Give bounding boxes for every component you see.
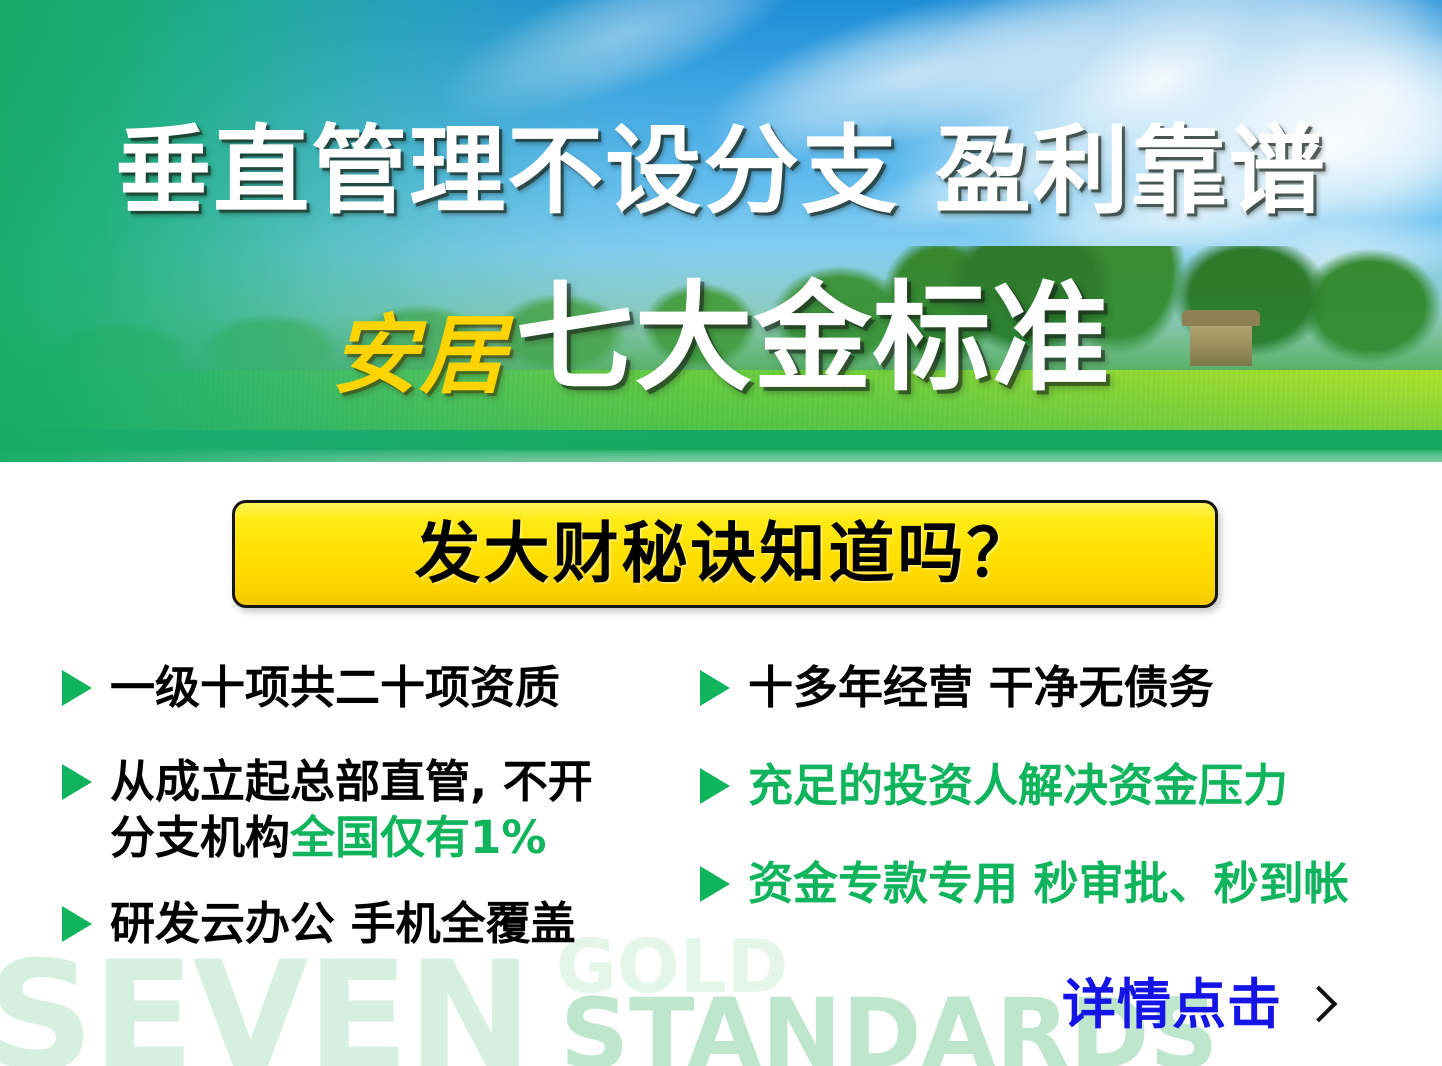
list-item: 充足的投资人解决资金压力 [700,758,1430,814]
triangle-bullet-icon [700,866,730,902]
feature-label: 充足的投资人解决资金压力 [748,758,1288,814]
feature-label: 从成立起总部直管, 不开 分支机构全国仅有1% [110,754,593,866]
triangle-bullet-icon [700,670,730,706]
feature-label: 一级十项共二十项资质 [110,660,560,716]
triangle-bullet-icon [62,670,92,706]
advertisement-banner: 垂直管理不设分支 盈利靠谱 安居七大金标准 发大财秘诀知道吗？ SEVEN GO… [0,0,1442,1066]
detail-link-label: 详情点击 [1062,978,1282,1032]
hero-headline-main: 七大金标准 [515,278,1110,398]
hero-headline-secondary: 安居七大金标准 [0,278,1442,434]
list-item: 十多年经营 干净无债务 [700,660,1430,716]
triangle-bullet-icon [62,764,92,800]
hero-headline-accent: 安居 [331,296,507,416]
feature-label-highlight: 全国仅有1% [290,811,546,864]
hero-image-section: 垂直管理不设分支 盈利靠谱 安居七大金标准 [0,0,1442,462]
question-banner-label: 发大财秘诀知道吗？ [415,521,1036,587]
feature-label: 研发云办公 手机全覆盖 [110,896,576,952]
feature-column-left: 一级十项共二十项资质 从成立起总部直管, 不开 分支机构全国仅有1% 研发云办公… [62,660,702,978]
chevron-right-icon [1302,982,1332,1028]
detail-link[interactable]: 详情点击 [1062,978,1332,1032]
list-item: 研发云办公 手机全覆盖 [62,896,702,952]
list-item: 资金专款专用 秒审批、秒到帐 [700,856,1430,912]
question-banner[interactable]: 发大财秘诀知道吗？ [232,500,1218,608]
list-item: 从成立起总部直管, 不开 分支机构全国仅有1% [62,754,702,866]
feature-column-right: 十多年经营 干净无债务 充足的投资人解决资金压力 资金专款专用 秒审批、秒到帐 [700,660,1430,938]
triangle-bullet-icon [700,768,730,804]
hero-headline-primary: 垂直管理不设分支 盈利靠谱 [0,115,1442,227]
feature-label: 十多年经营 干净无债务 [748,660,1214,716]
feature-lists: 一级十项共二十项资质 从成立起总部直管, 不开 分支机构全国仅有1% 研发云办公… [0,660,1442,990]
list-item: 一级十项共二十项资质 [62,660,702,716]
feature-label: 资金专款专用 秒审批、秒到帐 [748,856,1349,912]
triangle-bullet-icon [62,906,92,942]
